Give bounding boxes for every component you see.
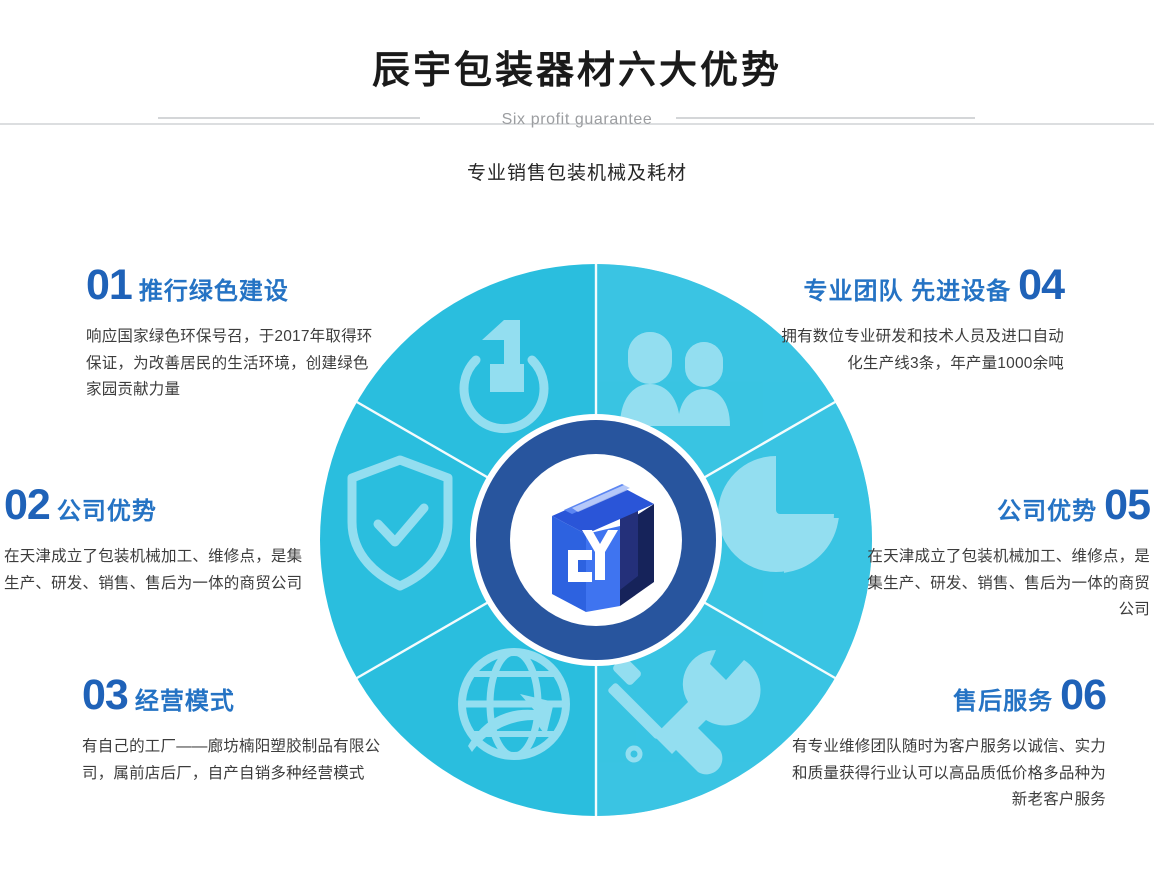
feature-heading-03: 03 经营模式 bbox=[82, 674, 388, 717]
feature-heading-05: 公司优势 05 bbox=[856, 484, 1150, 527]
feature-block-04: 专业团队 先进设备 04 拥有数位专业研发和技术人员及进口自动化生产线3条，年产… bbox=[780, 264, 1064, 377]
feature-block-05: 公司优势 05 在天津成立了包装机械加工、维修点，是集生产、研发、销售、售后为一… bbox=[856, 484, 1150, 624]
feature-number-03: 03 bbox=[82, 674, 128, 717]
feature-number-06: 06 bbox=[1060, 674, 1106, 717]
feature-block-02: 02 公司优势 在天津成立了包装机械加工、维修点，是集生产、研发、销售、售后为一… bbox=[4, 484, 304, 597]
feature-title-04: 专业团队 先进设备 bbox=[803, 271, 1011, 306]
subtitle-chinese: 专业销售包装机械及耗材 bbox=[0, 158, 1154, 185]
feature-title-01: 推行绿色建设 bbox=[139, 271, 289, 306]
feature-number-01: 01 bbox=[86, 264, 132, 307]
feature-body-06: 有专业维修团队随时为客户服务以诚信、实力和质量获得行业认可以高品质低价格多品种为… bbox=[788, 734, 1106, 814]
feature-heading-04: 专业团队 先进设备 04 bbox=[780, 264, 1064, 307]
feature-title-05: 公司优势 bbox=[997, 491, 1097, 526]
feature-heading-06: 售后服务 06 bbox=[788, 674, 1106, 717]
feature-body-01: 响应国家绿色环保号召，于2017年取得环保证，为改善居民的生活环境，创建绿色家园… bbox=[86, 324, 382, 404]
feature-heading-02: 02 公司优势 bbox=[4, 484, 304, 527]
feature-block-03: 03 经营模式 有自己的工厂——廊坊楠阳塑胶制品有限公司，属前店后厂，自产自销多… bbox=[82, 674, 388, 787]
feature-title-03: 经营模式 bbox=[135, 681, 235, 716]
feature-block-01: 01 推行绿色建设 响应国家绿色环保号召，于2017年取得环保证，为改善居民的生… bbox=[86, 264, 382, 404]
page-title: 辰宇包装器材六大优势 bbox=[0, 39, 1154, 94]
feature-body-02: 在天津成立了包装机械加工、维修点，是集生产、研发、销售、售后为一体的商贸公司 bbox=[4, 544, 304, 597]
feature-number-02: 02 bbox=[4, 484, 50, 527]
feature-number-04: 04 bbox=[1018, 264, 1064, 307]
feature-body-04: 拥有数位专业研发和技术人员及进口自动化生产线3条，年产量1000余吨 bbox=[780, 324, 1064, 377]
page-header: 辰宇包装器材六大优势 Six profit guarantee 专业销售包装机械… bbox=[0, 0, 1154, 200]
feature-title-06: 售后服务 bbox=[953, 681, 1053, 716]
feature-body-03: 有自己的工厂——廊坊楠阳塑胶制品有限公司，属前店后厂，自产自销多种经营模式 bbox=[82, 734, 388, 787]
feature-heading-01: 01 推行绿色建设 bbox=[86, 264, 382, 307]
feature-block-06: 售后服务 06 有专业维修团队随时为客户服务以诚信、实力和质量获得行业认可以高品… bbox=[788, 674, 1106, 814]
subtitle-english: Six profit guarantee bbox=[0, 111, 1154, 129]
feature-body-05: 在天津成立了包装机械加工、维修点，是集生产、研发、销售、售后为一体的商贸公司 bbox=[856, 544, 1150, 624]
feature-title-02: 公司优势 bbox=[57, 491, 157, 526]
feature-number-05: 05 bbox=[1104, 484, 1150, 527]
